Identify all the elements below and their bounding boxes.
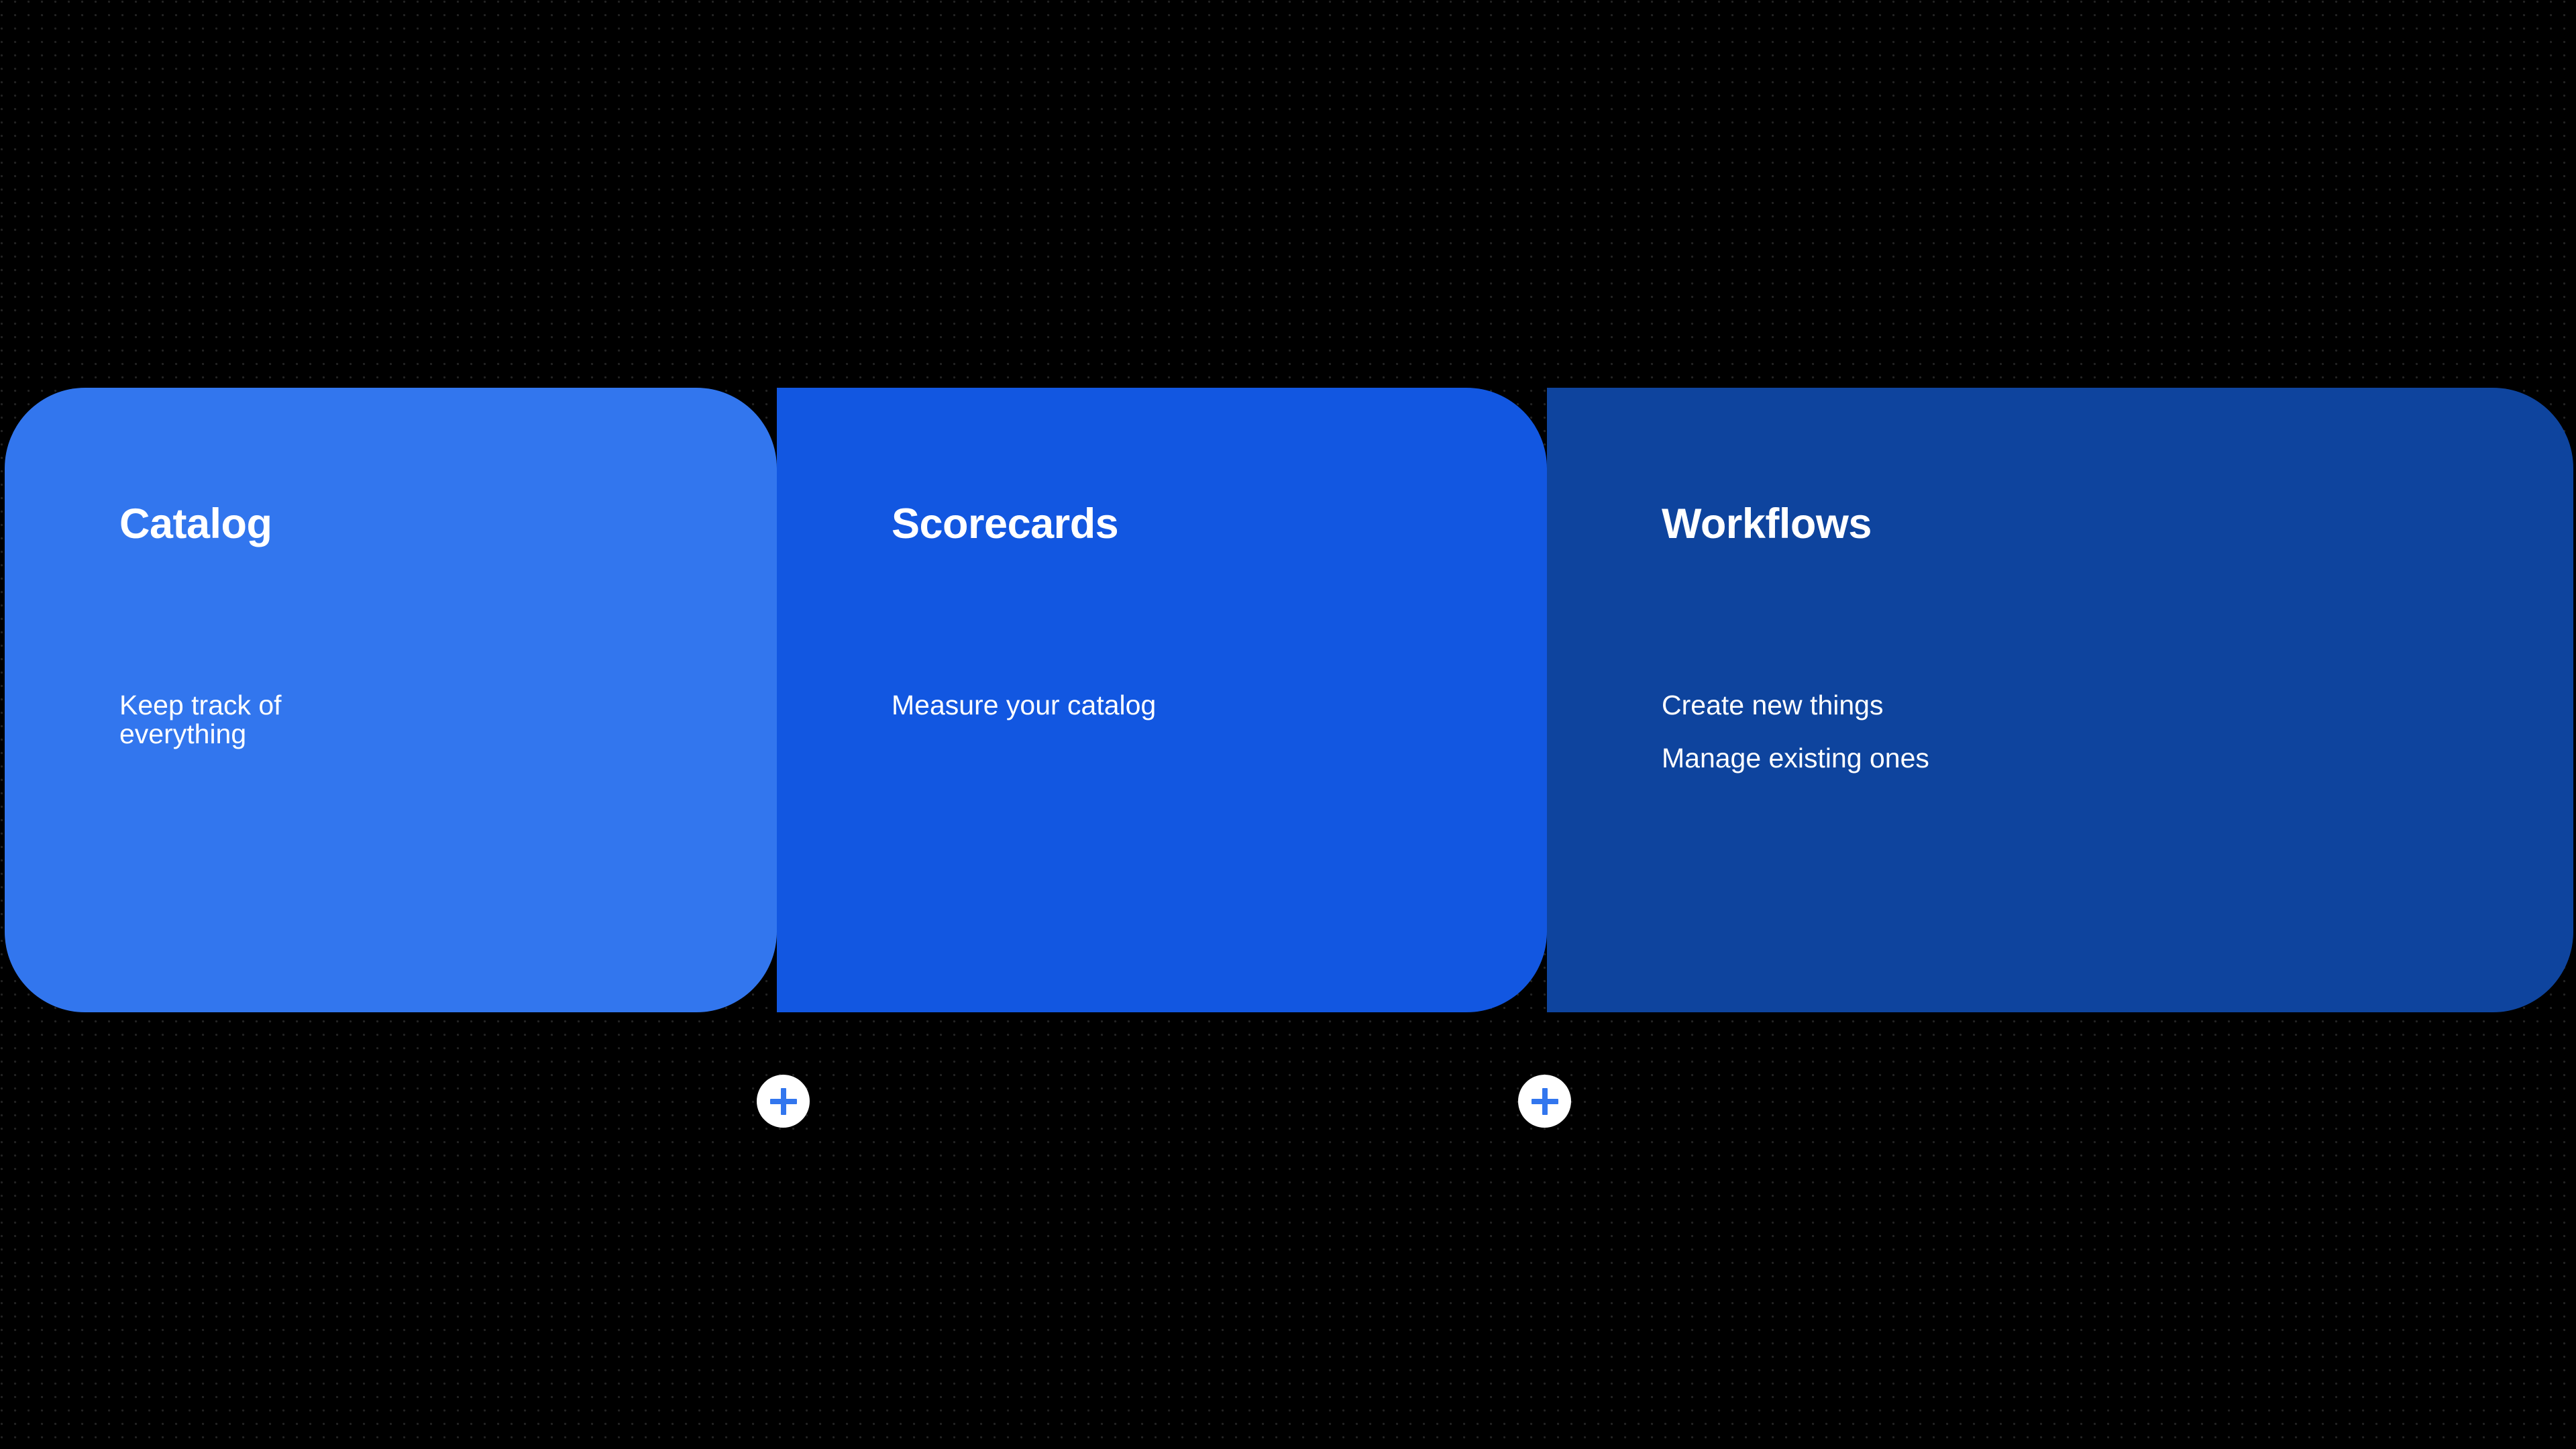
card-description-workflows: Create new things Manage existing ones — [1662, 691, 1929, 772]
feature-card-workflows[interactable]: Workflows Create new things Manage exist… — [1547, 388, 2573, 1012]
card-description-line: Manage existing ones — [1662, 744, 1929, 773]
card-description-catalog: Keep track of everything — [119, 691, 408, 748]
feature-card-scorecards[interactable]: Scorecards Measure your catalog — [777, 388, 1547, 1012]
card-title-catalog: Catalog — [119, 503, 272, 545]
card-description-line: Measure your catalog — [892, 691, 1156, 720]
card-description-scorecards: Measure your catalog — [892, 691, 1156, 720]
plus-icon — [770, 1088, 797, 1115]
card-description-line: Keep track of everything — [119, 691, 408, 748]
connector-badge-catalog-scorecards — [757, 1075, 810, 1128]
card-title-scorecards: Scorecards — [892, 503, 1118, 545]
card-description-line: Create new things — [1662, 691, 1929, 720]
feature-card-strip: Catalog Keep track of everything Scoreca… — [5, 388, 2573, 1012]
connector-badge-scorecards-workflows — [1518, 1075, 1571, 1128]
feature-card-catalog[interactable]: Catalog Keep track of everything — [5, 388, 777, 1012]
card-title-workflows: Workflows — [1662, 503, 1872, 545]
plus-icon — [1532, 1088, 1558, 1115]
